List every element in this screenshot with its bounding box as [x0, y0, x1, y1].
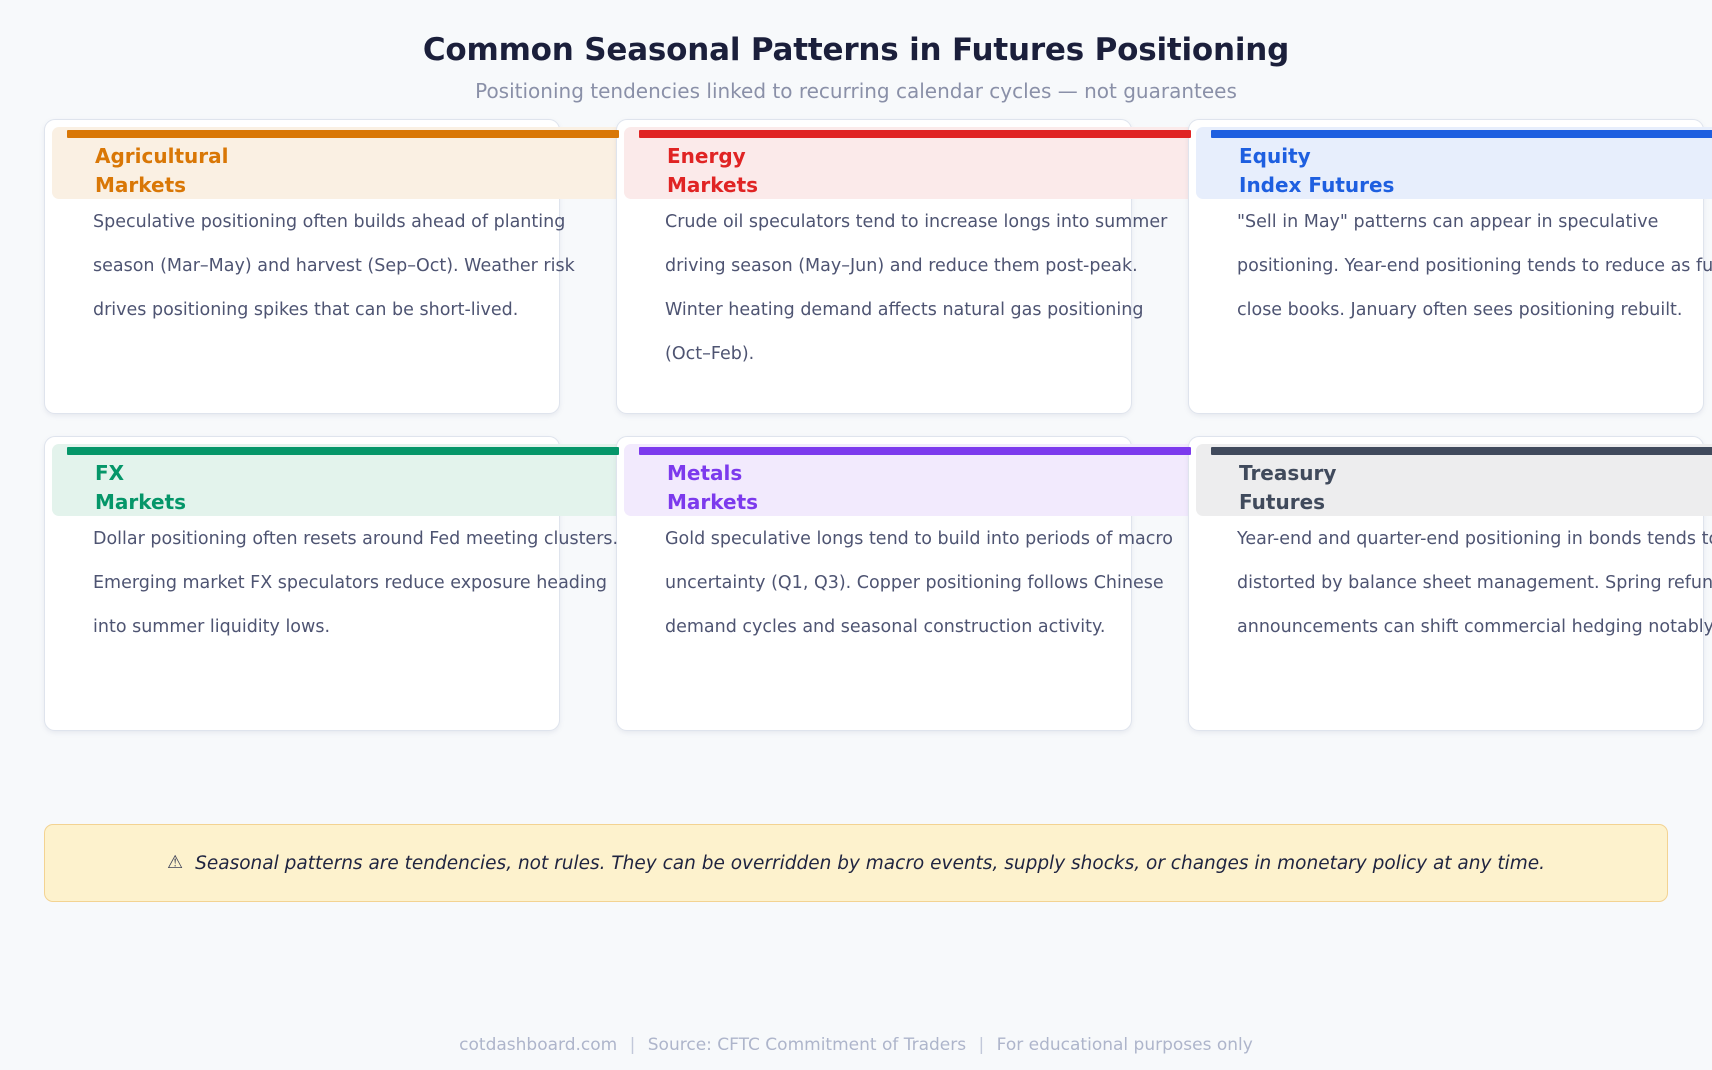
card-title: EquityIndex Futures	[1239, 142, 1539, 200]
disclaimer-text: Seasonal patterns are tendencies, not ru…	[195, 853, 1545, 874]
card-body-text: Year-end and quarter-end positioning in …	[1237, 517, 1712, 649]
market-card-grid: AgriculturalMarketsSpeculative positioni…	[44, 119, 1704, 731]
card-title: MetalsMarkets	[667, 459, 967, 517]
card-title-line-2: Futures	[1239, 488, 1539, 517]
card-title: EnergyMarkets	[667, 142, 967, 200]
card-accent-bar	[67, 130, 619, 138]
disclaimer-banner-content: ⚠ Seasonal patterns are tendencies, not …	[167, 853, 1545, 874]
card-title-line-2: Markets	[667, 171, 967, 200]
card-title-line-1: Equity	[1239, 142, 1539, 171]
card-body-text: Gold speculative longs tend to build int…	[665, 517, 1193, 649]
card-title-line-1: FX	[95, 459, 395, 488]
card-title-line-2: Markets	[95, 171, 395, 200]
footer-site: cotdashboard.com	[459, 1035, 617, 1055]
market-card: EquityIndex Futures"Sell in May" pattern…	[1188, 119, 1704, 414]
card-accent-bar	[639, 447, 1191, 455]
footer-disclaimer: For educational purposes only	[997, 1035, 1253, 1055]
card-title-line-1: Metals	[667, 459, 967, 488]
card-title-line-2: Markets	[95, 488, 395, 517]
market-card: TreasuryFuturesYear-end and quarter-end …	[1188, 436, 1704, 731]
disclaimer-banner: ⚠ Seasonal patterns are tendencies, not …	[44, 824, 1668, 902]
card-body-text: Crude oil speculators tend to increase l…	[665, 200, 1193, 376]
card-title: FXMarkets	[95, 459, 395, 517]
market-card: AgriculturalMarketsSpeculative positioni…	[44, 119, 560, 414]
warning-triangle-icon: ⚠	[167, 854, 183, 872]
market-card: MetalsMarketsGold speculative longs tend…	[616, 436, 1132, 731]
page-title: Common Seasonal Patterns in Futures Posi…	[0, 33, 1712, 69]
card-title-line-1: Treasury	[1239, 459, 1539, 488]
card-accent-bar	[1211, 130, 1712, 138]
card-accent-bar	[639, 130, 1191, 138]
market-card: FXMarketsDollar positioning often resets…	[44, 436, 560, 731]
card-title-line-1: Agricultural	[95, 142, 395, 171]
card-accent-bar	[1211, 447, 1712, 455]
card-body-text: "Sell in May" patterns can appear in spe…	[1237, 200, 1712, 332]
card-title-line-2: Index Futures	[1239, 171, 1539, 200]
page-footer: cotdashboard.com | Source: CFTC Commitme…	[0, 1035, 1712, 1055]
card-body-text: Speculative positioning often builds ahe…	[93, 200, 621, 332]
card-title: TreasuryFutures	[1239, 459, 1539, 517]
footer-source: Source: CFTC Commitment of Traders	[648, 1035, 966, 1055]
card-title: AgriculturalMarkets	[95, 142, 395, 200]
infographic-page: Common Seasonal Patterns in Futures Posi…	[0, 0, 1712, 1070]
card-title-line-1: Energy	[667, 142, 967, 171]
card-accent-bar	[67, 447, 619, 455]
card-body-text: Dollar positioning often resets around F…	[93, 517, 621, 649]
footer-separator-2: |	[972, 1035, 992, 1055]
card-title-line-2: Markets	[667, 488, 967, 517]
page-header: Common Seasonal Patterns in Futures Posi…	[0, 0, 1712, 103]
footer-separator-1: |	[623, 1035, 643, 1055]
market-card: EnergyMarketsCrude oil speculators tend …	[616, 119, 1132, 414]
page-subtitle: Positioning tendencies linked to recurri…	[0, 79, 1712, 103]
